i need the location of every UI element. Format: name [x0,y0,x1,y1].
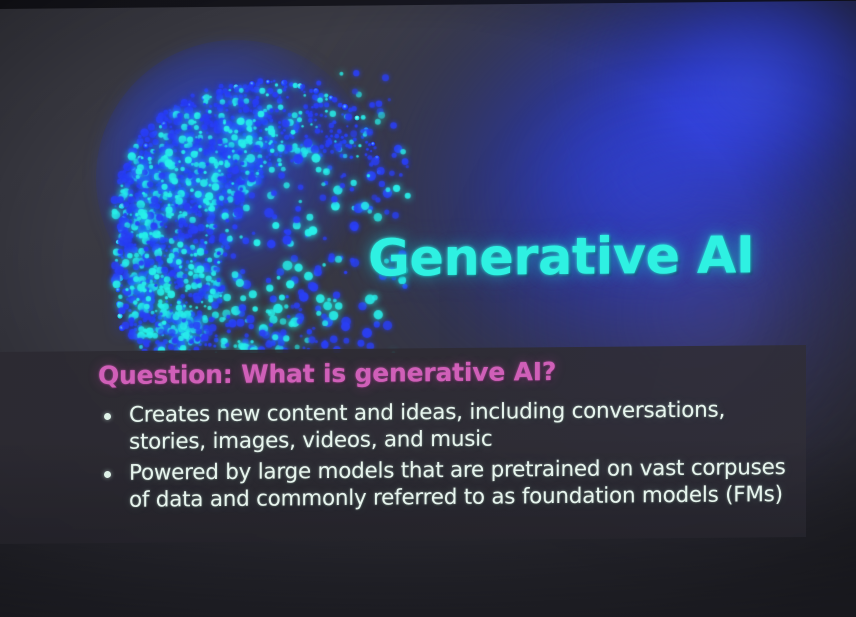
projected-slide-photo: Generative AI Question: What is generati… [0,0,856,617]
projection-screen-surface [0,0,856,617]
slide-text-block: Question: What is generative AI? Creates… [98,355,798,518]
list-item: Powered by large models that are pretrai… [98,454,798,514]
slide-title: Generative AI [368,226,754,288]
bullet-text: Creates new content and ideas, including… [129,396,798,456]
question-heading: Question: What is generative AI? [98,355,798,390]
list-item: Creates new content and ideas, including… [98,396,798,456]
bullet-dot-icon [104,413,111,420]
bullet-dot-icon [104,471,111,478]
bullet-text: Powered by large models that are pretrai… [129,454,798,514]
bullet-list: Creates new content and ideas, including… [98,396,798,514]
